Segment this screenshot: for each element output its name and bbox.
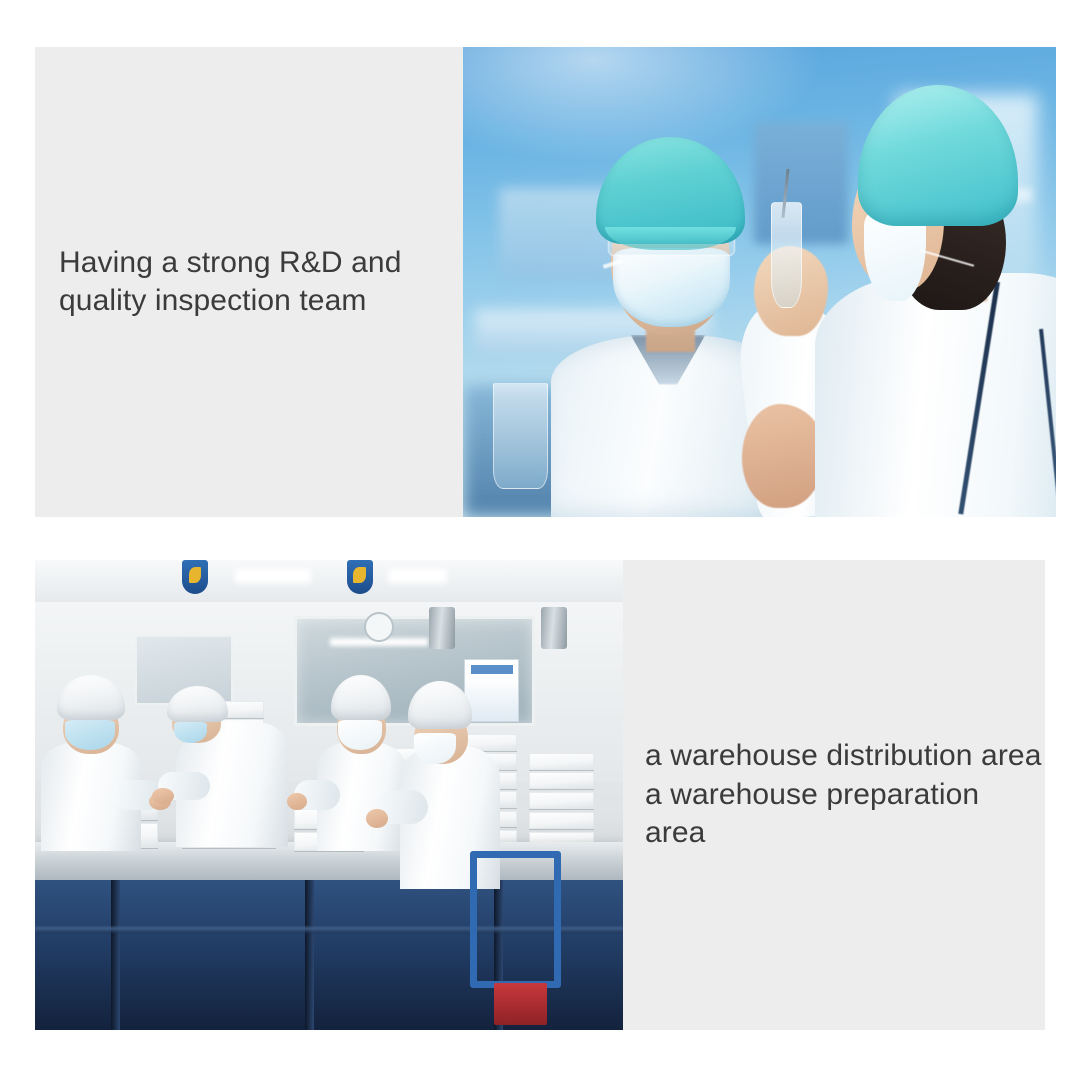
carton bbox=[529, 792, 594, 809]
warehouse-packing-photo bbox=[35, 560, 623, 1030]
packing-worker-bending bbox=[176, 668, 288, 847]
warehouse-panel: a warehouse distribution area a warehous… bbox=[35, 560, 1045, 1030]
carton-stack-back-c bbox=[529, 753, 594, 847]
cleanroom-ceiling bbox=[35, 560, 623, 602]
blue-cart-frame bbox=[470, 851, 560, 987]
ceiling-light-left bbox=[235, 569, 311, 583]
face-mask bbox=[414, 733, 456, 763]
carton bbox=[529, 753, 594, 770]
lab-technician-profile bbox=[771, 47, 1056, 517]
wall-clock-icon bbox=[364, 612, 394, 642]
ceiling-light-right bbox=[388, 569, 447, 583]
steel-canister-left bbox=[429, 607, 455, 649]
hair-net-cap bbox=[408, 681, 472, 729]
red-bin bbox=[494, 983, 547, 1025]
hair-net-cap bbox=[331, 675, 391, 720]
wall-badge-icon-right bbox=[347, 560, 373, 594]
hair-net-cap bbox=[858, 85, 1018, 226]
hair-net-cap bbox=[167, 686, 227, 722]
steel-canister-right bbox=[541, 607, 567, 649]
carton bbox=[529, 772, 594, 789]
rnd-caption-text: Having a strong R&D and quality inspecti… bbox=[35, 244, 401, 321]
lab-quality-inspection-photo bbox=[463, 47, 1056, 517]
hair-net-cap bbox=[57, 675, 125, 720]
lab-beaker bbox=[493, 383, 548, 488]
lab-scene bbox=[463, 47, 1056, 517]
rnd-quality-panel: Having a strong R&D and quality inspecti… bbox=[35, 47, 1056, 517]
warehouse-caption-text: a warehouse distribution area a warehous… bbox=[623, 737, 1045, 852]
rnd-caption-column: Having a strong R&D and quality inspecti… bbox=[35, 47, 463, 517]
table-leg-center bbox=[305, 880, 314, 1030]
table-leg-left bbox=[111, 880, 120, 1030]
carton bbox=[529, 812, 594, 829]
packing-scene bbox=[35, 560, 623, 1030]
warehouse-caption-column: a warehouse distribution area a warehous… bbox=[623, 560, 1045, 1030]
worker-hand bbox=[366, 809, 388, 828]
packing-worker-left bbox=[41, 663, 141, 851]
worker-hand bbox=[152, 788, 174, 804]
wall-badge-icon-left bbox=[182, 560, 208, 594]
worker-hand bbox=[287, 793, 306, 810]
